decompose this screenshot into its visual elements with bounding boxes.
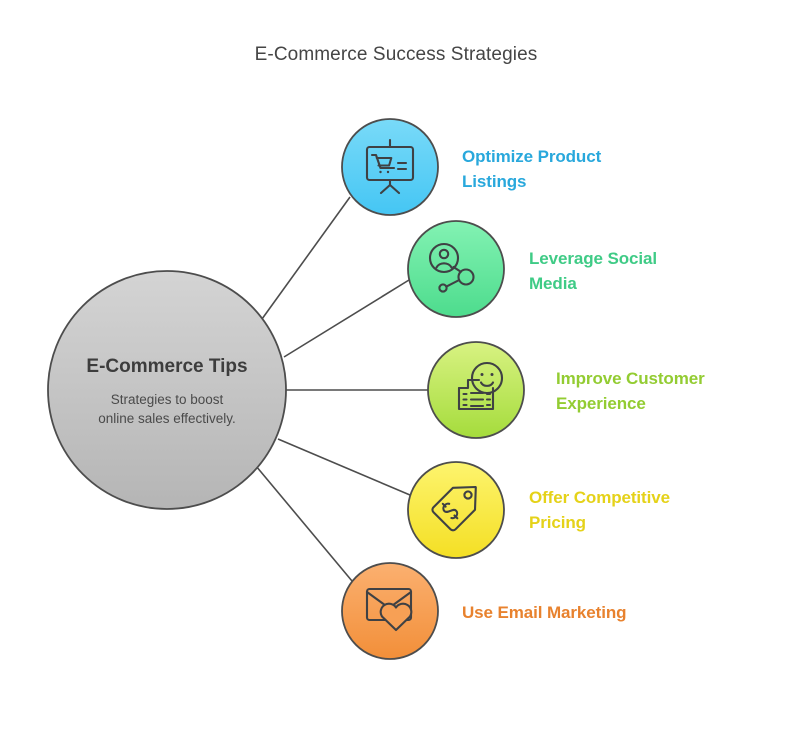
- node-optimize-product-listings[interactable]: Optimize Product Listings: [342, 119, 602, 215]
- hub-node[interactable]: E-Commerce Tips Strategies to boost onli…: [48, 271, 286, 509]
- node-circle-improve-customer-experience: [428, 342, 524, 438]
- node-label-improve-customer-experience-line2: Experience: [556, 394, 646, 413]
- node-label-improve-customer-experience-line1: Improve Customer: [556, 369, 705, 388]
- connector-to-leverage-social-media: [284, 280, 409, 357]
- node-label-offer-competitive-pricing-line1: Offer Competitive: [529, 488, 670, 507]
- hub-sublabel-line2: online sales effectively.: [98, 411, 236, 426]
- node-label-optimize-product-listings-line1: Optimize Product: [462, 147, 602, 166]
- node-label-use-email-marketing-line1: Use Email Marketing: [462, 603, 626, 622]
- node-label-optimize-product-listings-line2: Listings: [462, 172, 526, 191]
- hub-sublabel-line1: Strategies to boost: [111, 392, 224, 407]
- hub-circle: [48, 271, 286, 509]
- mindmap-canvas: E-Commerce Tips Strategies to boost onli…: [0, 0, 792, 732]
- node-use-email-marketing[interactable]: Use Email Marketing: [342, 563, 626, 659]
- connector-to-use-email-marketing: [256, 466, 352, 581]
- connector-to-optimize-product-listings: [262, 197, 350, 319]
- node-label-leverage-social-media-line2: Media: [529, 274, 577, 293]
- node-label-leverage-social-media-line1: Leverage Social: [529, 249, 657, 268]
- node-label-offer-competitive-pricing-line2: Pricing: [529, 513, 586, 532]
- connector-to-offer-competitive-pricing: [278, 439, 410, 495]
- node-offer-competitive-pricing[interactable]: Offer Competitive Pricing: [408, 462, 670, 558]
- node-leverage-social-media[interactable]: Leverage Social Media: [408, 221, 657, 317]
- node-improve-customer-experience[interactable]: Improve Customer Experience: [428, 342, 705, 438]
- hub-title: E-Commerce Tips: [86, 356, 247, 377]
